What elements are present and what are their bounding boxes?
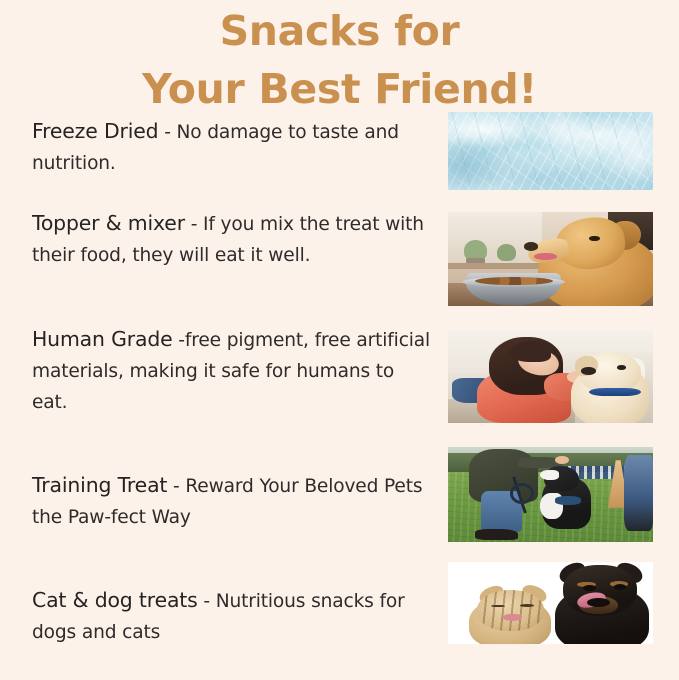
feature-heading-topper-mixer: Topper & mixer bbox=[32, 211, 185, 235]
feature-text-freeze-dried: Freeze Dried - No damage to taste and nu… bbox=[32, 116, 432, 179]
feature-text-training-treat: Training Treat - Reward Your Beloved Pet… bbox=[32, 470, 432, 533]
feature-separator-topper-mixer: - bbox=[185, 214, 203, 235]
feature-text-human-grade: Human Grade -free pigment, free artifici… bbox=[32, 324, 432, 418]
feature-separator-human-grade: - bbox=[173, 330, 185, 351]
feature-image-training-treat bbox=[448, 447, 653, 542]
woman-with-puppy-photo bbox=[448, 330, 653, 423]
feature-image-human-grade bbox=[448, 330, 653, 423]
page-title-line-2: Your Best Friend! bbox=[0, 60, 679, 118]
dog-with-bowl-photo bbox=[448, 212, 653, 306]
feature-heading-training-treat: Training Treat bbox=[32, 473, 167, 497]
dog-training-photo bbox=[448, 447, 653, 542]
feature-separator-training-treat: - bbox=[167, 476, 185, 497]
feature-image-freeze-dried bbox=[448, 112, 653, 190]
feature-image-cat-dog-treats bbox=[448, 562, 653, 644]
feature-heading-freeze-dried: Freeze Dried bbox=[32, 119, 158, 143]
feature-separator-cat-dog-treats: - bbox=[198, 591, 216, 612]
ice-texture-icon bbox=[448, 112, 653, 190]
feature-separator-freeze-dried: - bbox=[158, 122, 176, 143]
feature-image-topper-mixer bbox=[448, 212, 653, 306]
feature-heading-human-grade: Human Grade bbox=[32, 327, 173, 351]
cat-and-dog-photo bbox=[448, 562, 653, 644]
feature-text-topper-mixer: Topper & mixer - If you mix the treat wi… bbox=[32, 208, 432, 271]
feature-heading-cat-dog-treats: Cat & dog treats bbox=[32, 588, 198, 612]
page-title: Snacks for Your Best Friend! bbox=[0, 2, 679, 118]
feature-text-cat-dog-treats: Cat & dog treats - Nutritious snacks for… bbox=[32, 585, 432, 648]
infographic-page: Snacks for Your Best Friend! Freeze Drie… bbox=[0, 0, 679, 680]
page-title-line-1: Snacks for bbox=[0, 2, 679, 60]
